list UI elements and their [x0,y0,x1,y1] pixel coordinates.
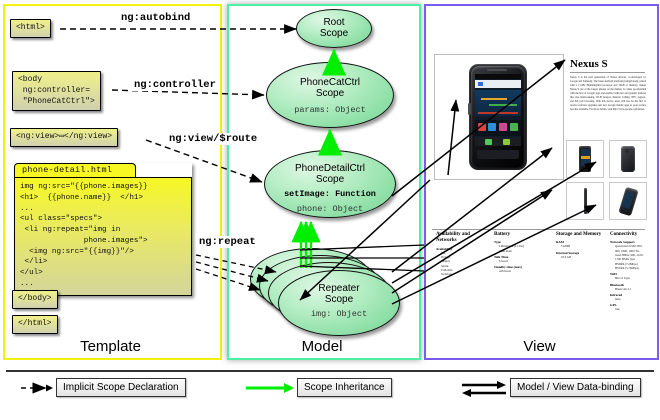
spec-header-storage: Storage and Memory [556,232,608,238]
scope-root-title: Root Scope [297,10,371,39]
scope-phonedetailctrl: PhoneDetailCtrl Scope setImage: Function… [264,150,396,218]
phone-speaker [487,69,507,71]
screen-dock [475,137,521,146]
legend-label-implicit-scope-declaration: Implicit Scope Declaration [56,378,186,397]
spec-values-availability: M1, Orange, Singtel, Sprint, T-Mobile, V… [436,251,488,277]
code-box-ng-view: <ng:view>▭</ng:view> [10,128,118,147]
scope-phonecatctrl-prop-params: params: Object [267,99,393,115]
thumb-side-body [584,188,587,214]
label-ng-repeat: ng:repeat [196,236,259,248]
app-icon-3 [499,123,507,131]
spec-header-connectivity: Connectivity [610,232,660,238]
spec-column-storage: Storage and Memory RAM 512MB Internal St… [556,232,608,259]
scope-phonedetailctrl-title: PhoneDetailCtrl Scope [265,151,395,185]
specs-divider [432,229,645,230]
dock-icon-phone [485,139,492,145]
rendered-view-page: Nexus S Nexus S is the next generation o… [430,10,649,340]
spec-values-infrared: false [610,297,660,301]
spec-column-battery: Battery Type Lithium Ion (Li-Ion) 1500 m… [494,232,552,274]
phone-thumbnail-back[interactable] [609,140,647,178]
label-ng-controller: ng:controller [131,79,219,91]
scope-phonecatctrl: PhoneCatCtrl Scope params: Object [266,62,394,128]
app-icon-2 [488,123,496,131]
code-box-html-close: </html> [12,315,58,334]
app-icon-4 [510,123,518,131]
phone-volume-key [468,103,471,115]
app-icon-1 [478,123,486,131]
legend-dashed-arrow-icon [20,378,54,398]
scope-repeater: Repeater Scope img: Object [278,270,400,336]
legend-divider [6,370,654,372]
fragment-code: img ng:src="{{phone.images}} <h1> {{phon… [14,177,192,296]
spec-column-availability: Availability and Networks Availability M… [436,232,488,277]
legend-item-implicit-scope-declaration: Implicit Scope Declaration [20,378,54,400]
spec-values-gps: true [610,307,660,311]
scope-phonedetailctrl-prop-setimage: setImage: Function [265,185,395,199]
scope-repeater-stack: Repeater Scope img: Object [250,248,400,340]
screen-stripe-orange [481,98,507,100]
panel-label-view: View [424,338,655,355]
scope-repeater-title: Repeater Scope [279,271,399,305]
scope-repeater-prop-img: img: Object [279,305,399,319]
code-fragment-phone-detail: phone-detail.html img ng:src="{{phone.im… [14,163,192,296]
thumb-front-stripe [581,156,590,159]
phone-thumbnail-angled[interactable] [609,182,647,220]
screen-stripe-green [489,104,517,106]
spec-header-availability: Availability and Networks [436,232,488,245]
code-box-html-open: <html> [10,19,51,38]
legend-item-model-view-data-binding: Model / View Data-binding [460,378,508,400]
spec-header-battery: Battery [494,232,552,238]
label-ng-view-route: ng:view/$route [166,133,260,145]
scope-phonecatctrl-title: PhoneCatCtrl Scope [267,63,393,99]
spec-values-battery-talktime: 6 hours [494,259,552,263]
spec-values-battery-type: Lithium Ion (Li-Ion) 1500 mAh [494,244,552,253]
spec-values-ram: 512MB [556,244,608,248]
panel-label-template: Template [3,338,218,355]
screen-search-icon [478,82,483,86]
phone-thumbnail-side[interactable] [566,182,604,220]
code-box-body-close: </body> [12,290,58,309]
phone-screen [475,74,521,146]
scope-root: Root Scope [296,9,372,48]
phone-specs-table: Availability and Networks Availability M… [432,232,647,332]
legend-label-scope-inheritance: Scope Inheritance [297,378,392,397]
thumb-back-camera [625,149,629,153]
legend-green-arrow-icon [245,378,295,398]
legend-item-scope-inheritance: Scope Inheritance [245,378,295,400]
phone-hardware-buttons [477,150,519,159]
screen-stripe-red [478,112,518,114]
screen-app-row [475,120,521,136]
phone-name-heading: Nexus S [570,58,608,70]
legend-label-model-view-data-binding: Model / View Data-binding [510,378,641,397]
phone-name-divider [570,72,645,73]
spec-values-wifi: 802.11 b/g/n [610,276,660,280]
spec-values-bluetooth: Bluetooth 2.1 [610,287,660,291]
diagram-canvas: <html> <body ng:controller= "PhoneCatCtr… [0,0,660,420]
label-ng-autobind: ng:autobind [118,12,193,24]
code-box-body-open: <body ng:controller= "PhoneCatCtrl"> [12,71,101,111]
phone-description: Nexus S is the next generation of Nexus … [570,76,646,112]
legend-double-arrow-icon [460,378,508,400]
phone-hero-image [434,54,564,180]
spec-values-battery-standby: 428 hours [494,269,552,273]
legend: Implicit Scope Declaration Scope Inherit… [0,378,660,408]
fragment-filename: phone-detail.html [22,165,112,175]
spec-values-network-support: Quad-band GSM: 850, 900, 1800, 1900 Tri-… [610,244,660,270]
panel-label-model: Model [227,338,417,355]
screen-statusbar [475,74,521,79]
phone-thumbnail-front[interactable] [566,140,604,178]
spec-column-connectivity: Connectivity Network Support Quad-band G… [610,232,660,312]
dock-icon-apps [503,139,510,145]
scope-phonedetailctrl-prop-phone: phone: Object [265,200,395,214]
spec-values-internal-storage: 16.0 GB [556,255,608,259]
